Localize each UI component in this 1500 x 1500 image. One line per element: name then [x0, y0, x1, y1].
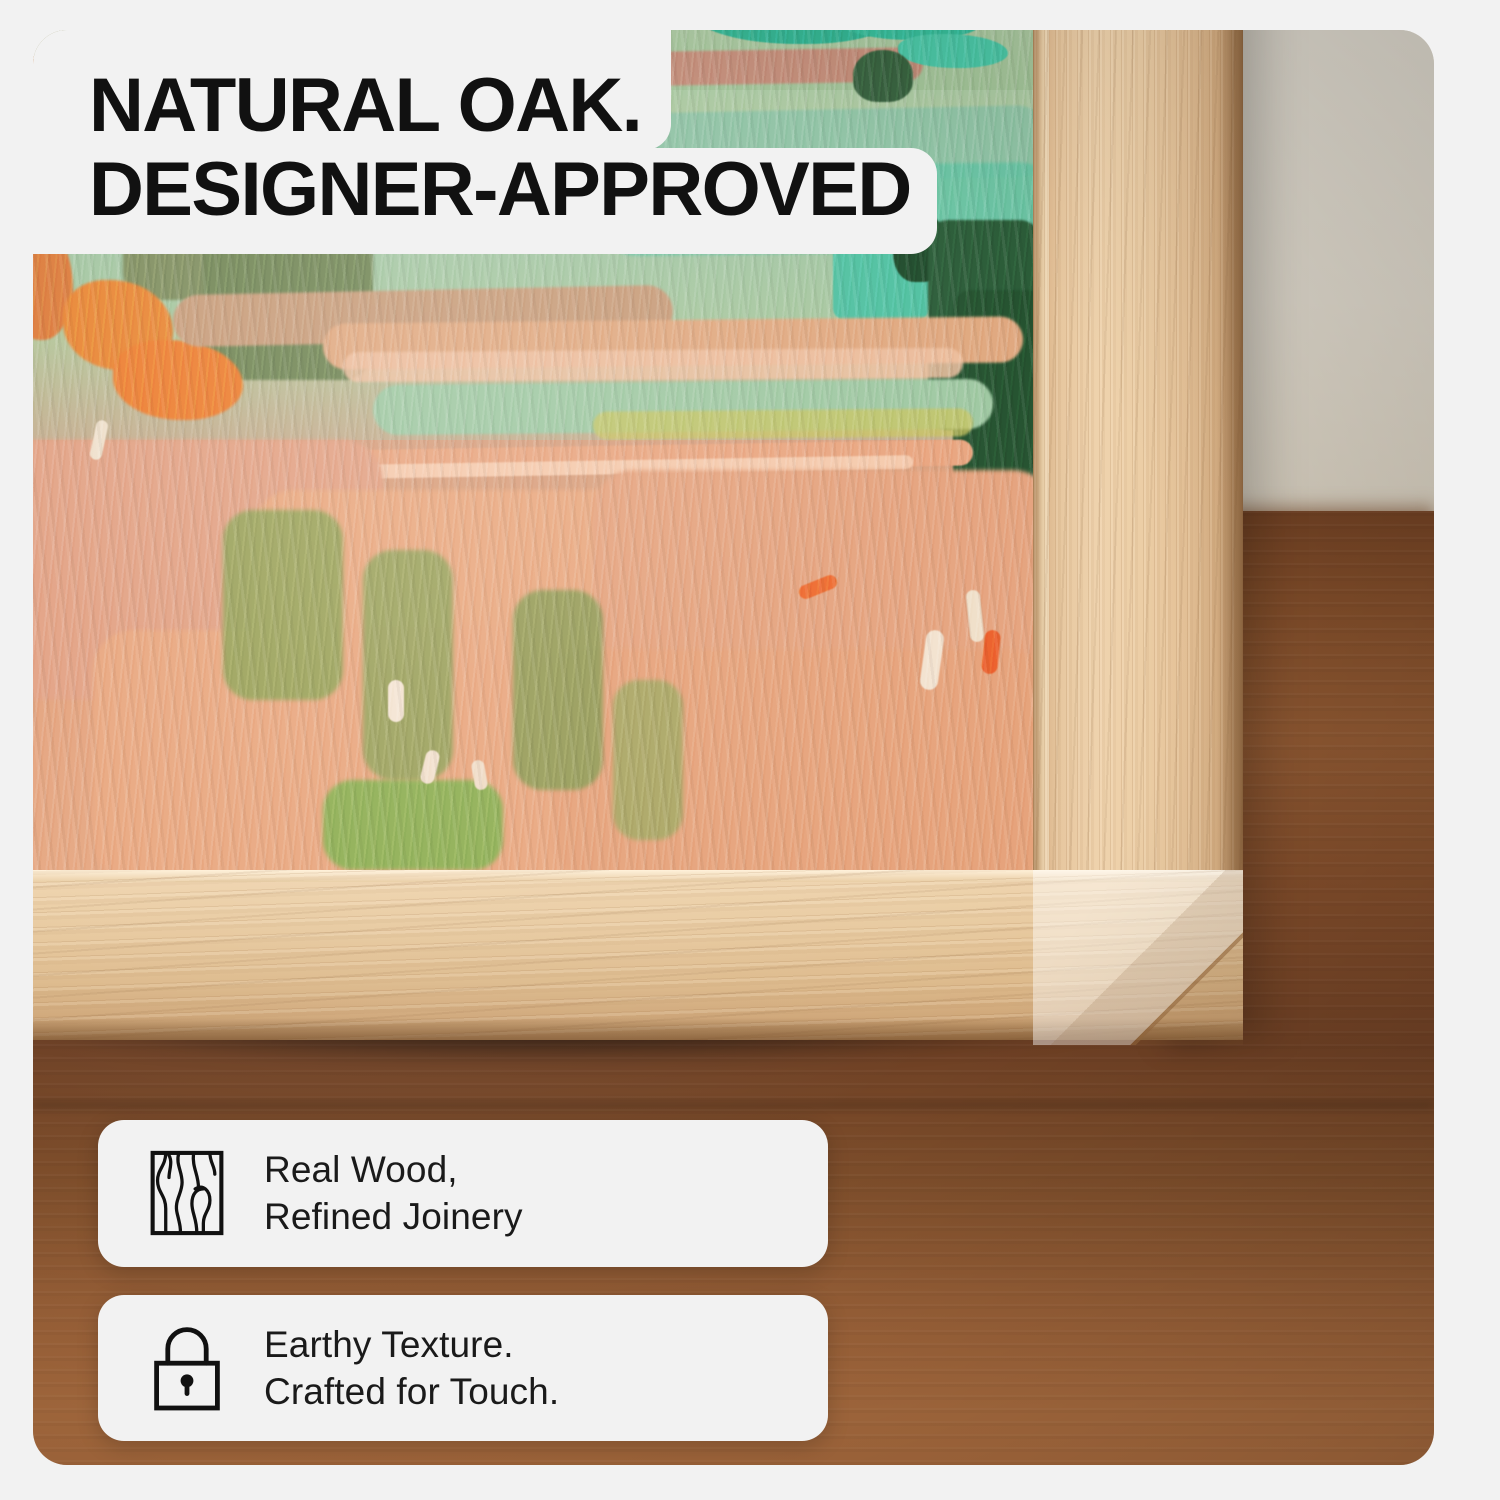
product-photo: NATURAL OAK. DESIGNER-APPROVED [33, 30, 1434, 1465]
feature-badge-line-1: Earthy Texture. [264, 1321, 559, 1368]
feature-badge-line-2: Refined Joinery [264, 1193, 523, 1240]
frame-miter-joint [1033, 870, 1243, 1045]
feature-badge-text: Real Wood, Refined Joinery [264, 1146, 523, 1241]
product-feature-image: NATURAL OAK. DESIGNER-APPROVED [0, 0, 1500, 1500]
feature-badge-line-2: Crafted for Touch. [264, 1368, 559, 1415]
feature-badge-line-1: Real Wood, [264, 1146, 523, 1193]
feature-badge: Earthy Texture. Crafted for Touch. [98, 1295, 828, 1442]
wood-grain-icon [144, 1150, 230, 1236]
feature-badge: Real Wood, Refined Joinery [98, 1120, 828, 1267]
headline: NATURAL OAK. DESIGNER-APPROVED [33, 30, 1434, 254]
lock-icon [144, 1325, 230, 1411]
feature-badge-list: Real Wood, Refined Joinery Earthy Textur… [98, 1120, 828, 1441]
feature-badge-text: Earthy Texture. Crafted for Touch. [264, 1321, 559, 1416]
headline-line-2: DESIGNER-APPROVED [33, 148, 937, 254]
headline-line-1: NATURAL OAK. [33, 30, 671, 150]
